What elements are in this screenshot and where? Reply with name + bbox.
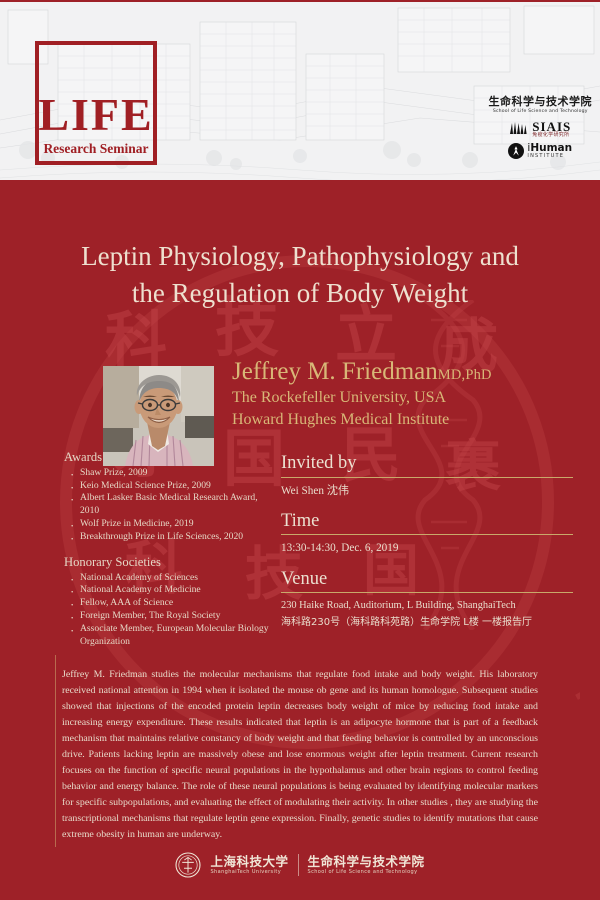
- slst-logo-en: School of Life Science and Technology: [489, 109, 593, 115]
- footer-school-cn: 生命科学与技术学院: [308, 855, 425, 869]
- list-item: National Academy of Medicine: [64, 584, 274, 597]
- venue-rule: [281, 592, 573, 593]
- list-item: Keio Medical Science Prize, 2009: [64, 480, 274, 493]
- venue-block: Venue 230 Haike Road, Auditorium, L Buil…: [281, 568, 573, 631]
- siais-logo-name: SIAIS: [532, 120, 571, 133]
- footer-school: 生命科学与技术学院 School of Life Science and Tec…: [308, 855, 425, 876]
- invited-by-heading: Invited by: [281, 452, 573, 475]
- list-item: Fellow, AAA of Science: [64, 597, 274, 610]
- poster-header: LIFE Research Seminar 生命科学与技术学院 School o…: [0, 0, 600, 180]
- list-item: Associate Member, European Molecular Bio…: [64, 623, 274, 649]
- awards-heading: Awards: [64, 450, 274, 466]
- seminar-title: Leptin Physiology, Pathophysiology and t…: [30, 238, 570, 313]
- list-item: National Academy of Sciences: [64, 572, 274, 585]
- life-logo-word: LIFE: [38, 92, 153, 138]
- siais-mark-icon: [509, 121, 529, 136]
- shanghaitech-seal-icon: [175, 852, 201, 878]
- honorary-societies-list: National Academy of Sciences National Ac…: [64, 572, 274, 649]
- invited-by-rule: [281, 477, 573, 478]
- time-heading: Time: [281, 510, 573, 533]
- seminar-title-line1: Leptin Physiology, Pathophysiology and: [30, 238, 570, 275]
- header-top-rule: [0, 0, 600, 2]
- list-item: Wolf Prize in Medicine, 2019: [64, 518, 274, 531]
- seminar-poster: LIFE Research Seminar 生命科学与技术学院 School o…: [0, 0, 600, 900]
- ihuman-logo-sub: INSTITUTE: [527, 154, 572, 159]
- life-logo-subtitle: Research Seminar: [43, 142, 148, 156]
- list-item: Foreign Member, The Royal Society: [64, 610, 274, 623]
- list-item: Albert Lasker Basic Medical Research Awa…: [64, 492, 274, 518]
- abstract-side-rule: [55, 655, 56, 847]
- venue-heading: Venue: [281, 568, 573, 591]
- speaker-name: Jeffrey M. Friedman: [232, 358, 438, 385]
- speaker-name-line: Jeffrey M. FriedmanMD,PhD: [232, 358, 492, 386]
- list-item: Shaw Prize, 2009: [64, 467, 274, 480]
- venue-value-en: 230 Haike Road, Auditorium, L Building, …: [281, 598, 573, 613]
- event-details-column: Invited by Wei Shen 沈伟 Time 13:30-14:30,…: [281, 452, 573, 631]
- life-seminar-logo: LIFE Research Seminar: [35, 41, 157, 165]
- speaker-affiliation-2: Howard Hughes Medical Institute: [232, 409, 492, 430]
- ihuman-logo-name: iHuman: [527, 143, 572, 154]
- footer-university-cn: 上海科技大学: [210, 855, 288, 869]
- siais-logo-cn: 免疫化学研究所: [532, 133, 571, 138]
- time-block: Time 13:30-14:30, Dec. 6, 2019: [281, 510, 573, 557]
- awards-list: Shaw Prize, 2009 Keio Medical Science Pr…: [64, 467, 274, 544]
- time-rule: [281, 534, 573, 535]
- institution-logos: 生命科学与技术学院 School of Life Science and Tec…: [489, 96, 593, 159]
- speaker-affiliation-1: The Rockefeller University, USA: [232, 387, 492, 408]
- footer-university: 上海科技大学 ShanghaiTech University: [210, 855, 288, 876]
- speaker-degree: MD,PhD: [438, 367, 492, 383]
- invited-by-block: Invited by Wei Shen 沈伟: [281, 452, 573, 499]
- speaker-block: Jeffrey M. FriedmanMD,PhD The Rockefelle…: [232, 358, 492, 430]
- abstract-text: Jeffrey M. Friedman studies the molecula…: [62, 667, 538, 844]
- list-item: Breakthrough Prize in Life Sciences, 202…: [64, 531, 274, 544]
- slst-logo-cn: 生命科学与技术学院: [489, 96, 593, 108]
- invited-by-value: Wei Shen 沈伟: [281, 483, 573, 499]
- credentials-column: Awards Shaw Prize, 2009 Keio Medical Sci…: [64, 450, 274, 660]
- honorary-societies-heading: Honorary Societies: [64, 555, 274, 571]
- seminar-title-line2: the Regulation of Body Weight: [30, 275, 570, 312]
- venue-value-cn: 海科路230号（海科路科苑路）生命学院 L楼 一楼报告厅: [281, 616, 573, 631]
- time-value: 13:30-14:30, Dec. 6, 2019: [281, 540, 573, 556]
- ihuman-person-icon: [508, 143, 524, 159]
- footer-divider: [298, 854, 299, 876]
- slst-logo: 生命科学与技术学院 School of Life Science and Tec…: [489, 96, 593, 115]
- ihuman-logo: iHuman INSTITUTE: [508, 143, 572, 159]
- siais-logo: SIAIS 免疫化学研究所: [509, 120, 571, 138]
- footer-university-en: ShanghaiTech University: [210, 870, 288, 876]
- poster-footer: 上海科技大学 ShanghaiTech University 生命科学与技术学院…: [0, 852, 600, 878]
- footer-school-en: School of Life Science and Technology: [308, 870, 425, 876]
